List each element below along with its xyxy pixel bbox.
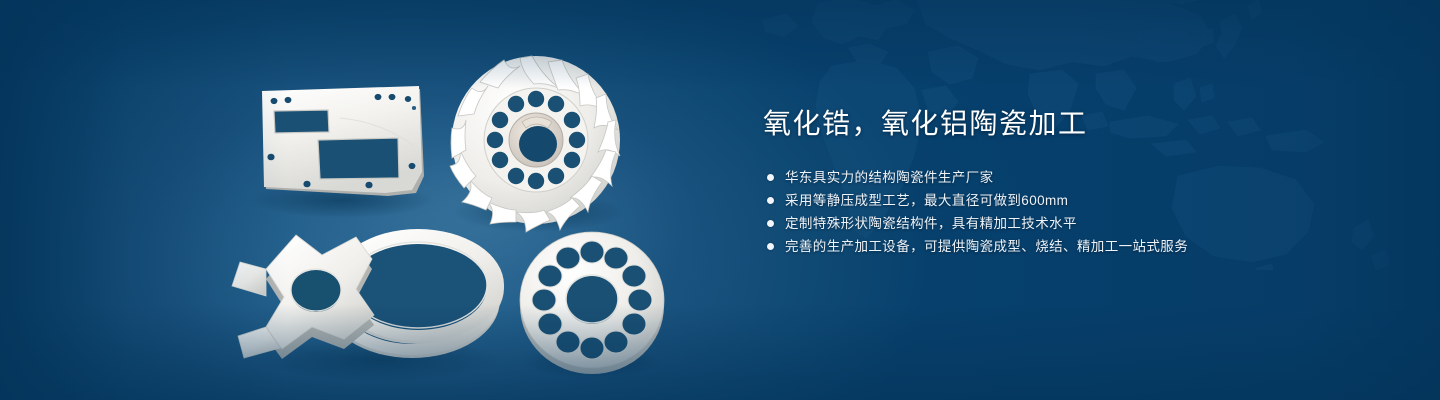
banner-headline: 氧化锆，氧化铝陶瓷加工 <box>763 104 1383 144</box>
feature-text: 定制特殊形状陶瓷结构件，具有精加工技术水平 <box>785 212 1077 235</box>
banner-copy-block: 氧化锆，氧化铝陶瓷加工 华东具实力的结构陶瓷件生产厂家 采用等静压成型工艺，最大… <box>763 104 1383 258</box>
feature-text: 完善的生产加工设备，可提供陶瓷成型、烧结、精加工一站式服务 <box>785 235 1188 258</box>
list-item: 采用等静压成型工艺，最大直径可做到600mm <box>763 189 1383 212</box>
bullet-dot-icon <box>767 174 774 181</box>
list-item: 定制特殊形状陶瓷结构件，具有精加工技术水平 <box>763 212 1383 235</box>
banner-feature-list: 华东具实力的结构陶瓷件生产厂家 采用等静压成型工艺，最大直径可做到600mm 定… <box>763 166 1383 258</box>
bullet-dot-icon <box>767 197 774 204</box>
feature-text: 采用等静压成型工艺，最大直径可做到600mm <box>785 189 1068 212</box>
bullet-dot-icon <box>767 220 774 227</box>
feature-text: 华东具实力的结构陶瓷件生产厂家 <box>785 166 994 189</box>
list-item: 完善的生产加工设备，可提供陶瓷成型、烧结、精加工一站式服务 <box>763 235 1383 258</box>
list-item: 华东具实力的结构陶瓷件生产厂家 <box>763 166 1383 189</box>
ceramic-processing-banner: 氧化锆，氧化铝陶瓷加工 华东具实力的结构陶瓷件生产厂家 采用等静压成型工艺，最大… <box>0 0 1440 400</box>
bullet-dot-icon <box>767 243 774 250</box>
